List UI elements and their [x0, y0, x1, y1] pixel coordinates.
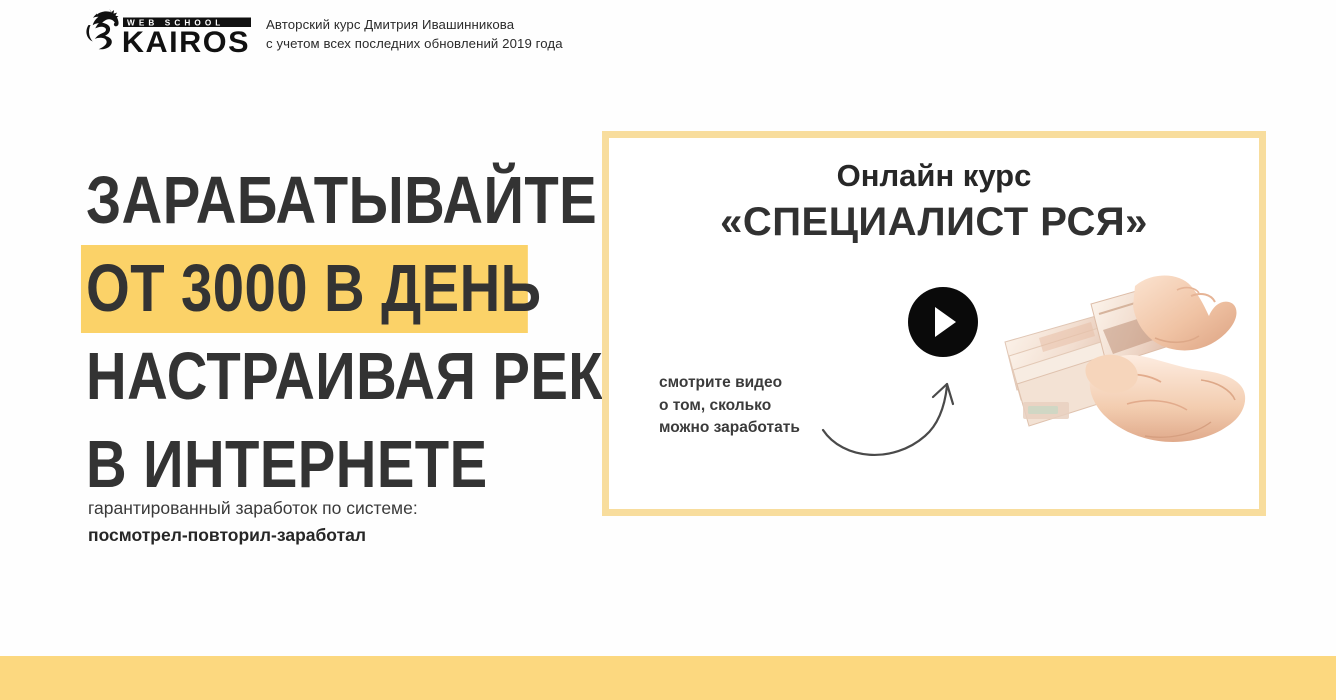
video-card-inner: Онлайн курс «СПЕЦИАЛИСТ РСЯ» смотрите ви…	[609, 138, 1259, 509]
curved-arrow-up-right-icon	[821, 364, 981, 470]
logo-wordmark: KAIROS	[122, 26, 250, 55]
hands-counting-banknotes-photo	[995, 256, 1259, 506]
header-tagline-line-1: Авторский курс Дмитрия Ивашинникова	[266, 15, 563, 34]
watch-note-line-2: о том, сколько	[659, 395, 800, 418]
watch-note-line-3: можно заработать	[659, 417, 800, 440]
watch-note-line-1: смотрите видео	[659, 372, 800, 395]
kairos-logo[interactable]: WEB SCHOOL KAIROS	[79, 7, 251, 55]
header-tagline-line-2: с учетом всех последних обновлений 2019 …	[266, 34, 563, 53]
kairos-logo-svg: WEB SCHOOL KAIROS	[79, 7, 251, 55]
headline-line-1: ЗАРАБАТЫВАЙТЕ	[86, 157, 523, 245]
site-header: WEB SCHOOL KAIROS Авторский курс Дмитрия…	[0, 0, 1336, 72]
hero-subtitle-line-1: гарантированный заработок по системе:	[88, 495, 418, 522]
page-title: ЗАРАБАТЫВАЙТЕ ОТ 3000 В ДЕНЬ НАСТРАИВАЯ …	[86, 157, 606, 509]
hero-subtitle: гарантированный заработок по системе: по…	[88, 495, 418, 549]
headline-line-3: НАСТРАИВАЯ РЕКЛАМУ	[86, 333, 523, 421]
landing-page: WEB SCHOOL KAIROS Авторский курс Дмитрия…	[0, 0, 1336, 700]
headline-line-2-highlighted: ОТ 3000 В ДЕНЬ	[86, 245, 523, 333]
bottom-accent-band	[0, 656, 1336, 700]
course-kicker: Онлайн курс	[609, 158, 1259, 194]
video-promo-card[interactable]: Онлайн курс «СПЕЦИАЛИСТ РСЯ» смотрите ви…	[602, 131, 1266, 516]
play-triangle-icon	[935, 307, 956, 337]
course-title: «СПЕЦИАЛИСТ РСЯ»	[609, 200, 1259, 245]
pegasus-horse-head-icon	[86, 9, 118, 49]
play-video-button[interactable]	[908, 287, 978, 357]
watch-video-note: смотрите видео о том, сколько можно зара…	[659, 372, 800, 440]
hero-subtitle-line-2: посмотрел-повторил-заработал	[88, 522, 418, 549]
header-tagline: Авторский курс Дмитрия Ивашинникова с уч…	[266, 15, 563, 53]
